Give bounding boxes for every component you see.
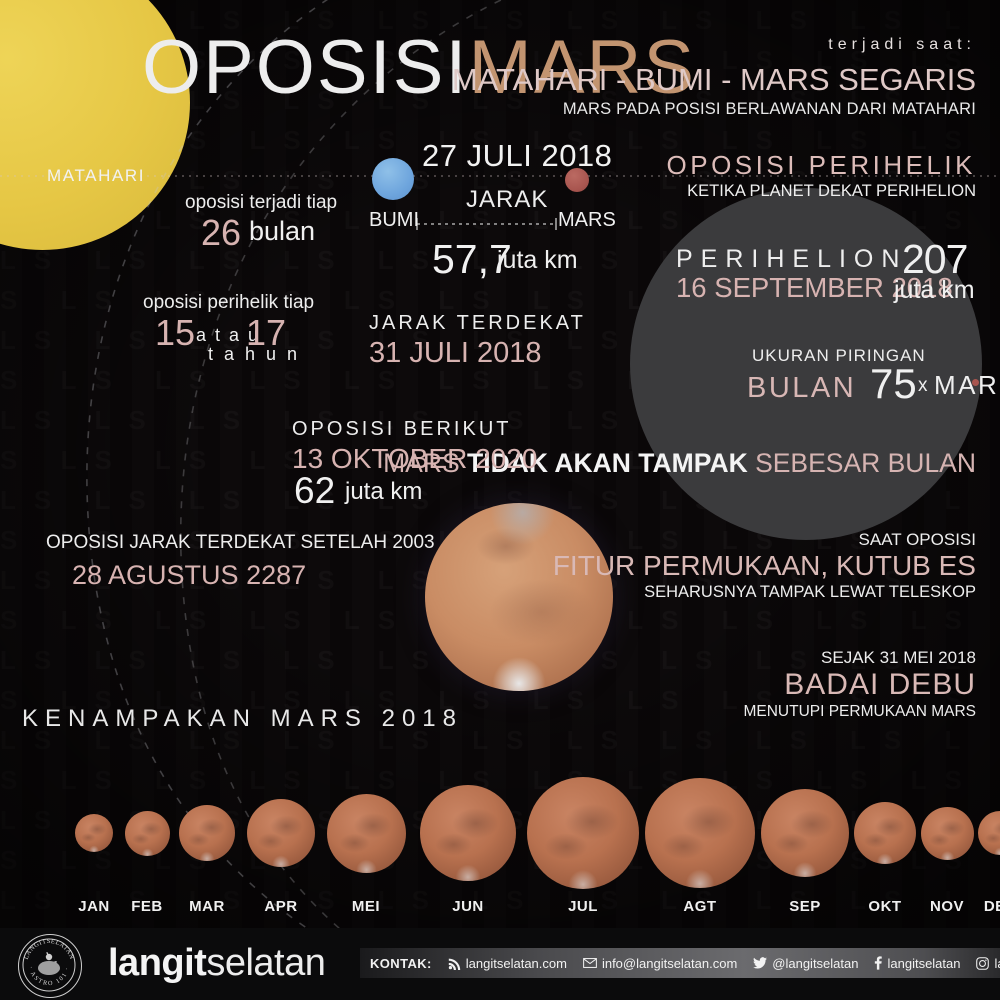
- contact-twitter-text: @langitselatan: [772, 956, 858, 971]
- disc-size-factor: 75: [870, 360, 917, 408]
- mars-dot-icon: [972, 379, 979, 386]
- contact-link-twitter[interactable]: @langitselatan: [753, 956, 858, 971]
- contact-link-facebook[interactable]: langitselatan: [874, 956, 960, 971]
- contact-bar: KONTAK: langitselatan.com: [360, 948, 1000, 978]
- instagram-icon: [976, 957, 989, 970]
- perihelic-frequency-unit: t a h u n: [208, 344, 300, 365]
- header-sub: MARS PADA POSISI BERLAWANAN DARI MATAHAR…: [563, 100, 976, 119]
- rss-icon: [448, 957, 461, 970]
- contact-facebook-text: langitselatan: [887, 956, 960, 971]
- sequence-month-label: SEP: [789, 898, 821, 915]
- perihelik-subtitle: KETIKA PLANET DEKAT PERIHELION: [687, 182, 976, 201]
- distance-unit: juta km: [497, 246, 578, 275]
- kontak-label: KONTAK:: [370, 956, 432, 971]
- sequence-title: KENAMPAKAN MARS 2018: [22, 705, 463, 733]
- sequence-month-nov-10: NOV: [917, 774, 977, 915]
- mars-disk-mar: [179, 805, 235, 861]
- infographic-poster: LS LS LS LS LS LS LS LS LS LS LS LS LS L…: [0, 0, 1000, 1000]
- sequence-month-label: JUL: [568, 898, 598, 915]
- next-opposition-value: 62: [294, 470, 335, 512]
- sequence-month-jul-6: JUL: [553, 774, 613, 915]
- mars-disk-jan: [75, 814, 113, 852]
- sequence-month-label: DES: [984, 898, 1000, 915]
- mars-disk-jul: [527, 777, 639, 889]
- opposition-frequency-unit: bulan: [249, 216, 315, 247]
- disc-size-mars: MARS: [934, 370, 1000, 401]
- next-opposition-unit: juta km: [345, 478, 422, 506]
- perihelion-word: PERIHELION: [676, 245, 907, 274]
- contact-website-text: langitselatan.com: [466, 956, 567, 971]
- storm-sub: MENUTUPI PERMUKAAN MARS: [743, 703, 976, 721]
- mars-disk-jun: [420, 785, 516, 881]
- mars-disk-agt: [645, 778, 755, 888]
- disc-size-times: x: [918, 375, 928, 397]
- sequence-month-label: JUN: [452, 898, 484, 915]
- sequence-month-mei-4: MEI: [336, 774, 396, 915]
- twitter-icon: [753, 957, 767, 969]
- sequence-month-agt-7: AGT: [670, 774, 730, 915]
- sequence-month-label: NOV: [930, 898, 964, 915]
- langitselatan-seal-logo: LANGITSELATAN · ASTRO 101 ·: [18, 934, 82, 998]
- sequence-month-label: MEI: [352, 898, 380, 915]
- closest-distance-label: JARAK TERDEKAT: [369, 312, 586, 335]
- brand-part-selatan: selatan: [206, 942, 325, 984]
- header-main: MATAHARI - BUMI - MARS SEGARIS: [452, 62, 976, 98]
- sequence-month-feb-1: FEB: [117, 774, 177, 915]
- header-kicker: terjadi saat:: [828, 36, 976, 54]
- mars-disk-feb: [125, 811, 170, 856]
- contact-link-instagram[interactable]: langitselatanmedia: [976, 956, 1000, 971]
- brand-wordmark: langitselatan: [108, 942, 325, 985]
- sequence-month-jun-5: JUN: [438, 774, 498, 915]
- contact-instagram-text: langitselatanmedia: [994, 956, 1000, 971]
- earth-graphic: [372, 158, 414, 200]
- surface-kicker: SAAT OPOSISI: [859, 530, 976, 550]
- sequence-month-label: AGT: [683, 898, 716, 915]
- sequence-month-label: OKT: [868, 898, 901, 915]
- sequence-month-label: MAR: [189, 898, 225, 915]
- sequence-month-sep-8: SEP: [775, 774, 835, 915]
- perihelion-unit: juta km: [894, 276, 975, 305]
- sequence-month-mar-2: MAR: [177, 774, 237, 915]
- contact-link-website[interactable]: langitselatan.com: [448, 956, 567, 971]
- surface-main: FITUR PERMUKAAN, KUTUB ES: [553, 550, 976, 582]
- storm-main: BADAI DEBU: [784, 668, 976, 702]
- closest-after-2003-label: OPOSISI JARAK TERDEKAT SETELAH 2003: [46, 532, 435, 554]
- earth-label: BUMI: [369, 209, 419, 232]
- storm-kicker: SEJAK 31 MEI 2018: [821, 648, 976, 668]
- opposition-frequency-number: 26: [201, 212, 241, 254]
- next-opposition-label: OPOSISI BERIKUT: [292, 418, 511, 441]
- perihelik-title: OPOSISI PERIHELIK: [667, 150, 976, 181]
- perihelic-frequency-n1: 15: [155, 312, 195, 354]
- disc-size-moon: BULAN: [747, 372, 856, 405]
- closest-distance-date: 31 JULI 2018: [369, 337, 542, 370]
- facebook-icon: [874, 956, 882, 970]
- brand-part-langit: langit: [108, 942, 206, 984]
- sequence-month-des-11: DES: [970, 774, 1000, 915]
- sequence-month-label: JAN: [78, 898, 110, 915]
- sequence-month-okt-9: OKT: [855, 774, 915, 915]
- surface-sub: SEHARUSNYA TAMPAK LEWAT TELESKOP: [644, 583, 976, 602]
- sequence-month-jan-0: JAN: [64, 774, 124, 915]
- sequence-month-label: APR: [264, 898, 297, 915]
- contact-email-text: info@langitselatan.com: [602, 956, 737, 971]
- perihelic-frequency-label: oposisi perihelik tiap: [143, 292, 314, 314]
- mars-disk-nov: [921, 807, 974, 860]
- contact-link-email[interactable]: info@langitselatan.com: [583, 956, 737, 971]
- mars-label: MARS: [558, 209, 616, 232]
- mars-disk-apr: [247, 799, 315, 867]
- title-part-oposisi: OPOSISI: [142, 25, 469, 110]
- mars-disk-okt: [854, 802, 916, 864]
- mars-apparent-size-sequence: JANFEBMARAPRMEIJUNJULAGTSEPOKTNOVDESJAN: [0, 760, 1000, 915]
- sequence-month-label: FEB: [131, 898, 163, 915]
- opposition-date: 27 JULI 2018: [422, 138, 612, 174]
- statement-part-3: SEBESAR BULAN: [748, 448, 976, 478]
- mars-disk-des: [978, 811, 1000, 855]
- distance-label: JARAK: [466, 186, 548, 214]
- footer-bar: LANGITSELATAN · ASTRO 101 · langitselata…: [0, 928, 1000, 1000]
- mars-disk-mei: [327, 794, 406, 873]
- closest-after-2003-date: 28 AGUSTUS 2287: [72, 560, 306, 591]
- opposition-frequency-label: oposisi terjadi tiap: [185, 192, 337, 214]
- mars-large-image: [425, 503, 613, 691]
- sequence-month-apr-3: APR: [251, 774, 311, 915]
- envelope-icon: [583, 957, 597, 969]
- sun-label: MATAHARI: [47, 166, 145, 186]
- mars-disk-sep: [761, 789, 849, 877]
